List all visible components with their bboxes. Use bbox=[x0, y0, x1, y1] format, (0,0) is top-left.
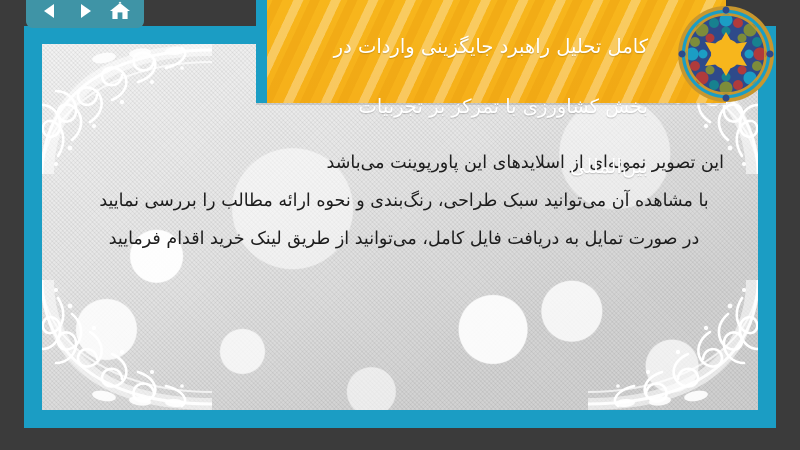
screen: این تصویر نمونه‌ای از اسلایدهای این پاور… bbox=[0, 0, 800, 450]
persian-medallion-icon bbox=[676, 4, 776, 104]
home-icon bbox=[109, 1, 131, 21]
triangle-left-icon bbox=[40, 1, 60, 21]
title-line-1: کامل تحلیل راهبرد جایگزینی واردات در bbox=[334, 35, 648, 58]
body-line-2: با مشاهده آن می‌توانید سبک طراحی، رنگ‌بن… bbox=[68, 182, 740, 220]
body-line-3: در صورت تمایل به دریافت فایل کامل، می‌تو… bbox=[68, 220, 740, 258]
forward-button[interactable] bbox=[71, 0, 99, 23]
home-button[interactable] bbox=[106, 0, 134, 23]
title-line-2: بخش کشاورزی با تمرکز بر تجربیات bbox=[359, 95, 648, 118]
page-title: کامل تحلیل راهبرد جایگزینی واردات در بخش… bbox=[270, 2, 648, 182]
navigation-bar[interactable] bbox=[26, 0, 144, 28]
back-button[interactable] bbox=[36, 0, 64, 23]
triangle-right-icon bbox=[75, 1, 95, 21]
title-line-3: بین‌المللی bbox=[570, 155, 648, 178]
slide-title-banner: کامل تحلیل راهبرد جایگزینی واردات در بخش… bbox=[256, 0, 726, 103]
